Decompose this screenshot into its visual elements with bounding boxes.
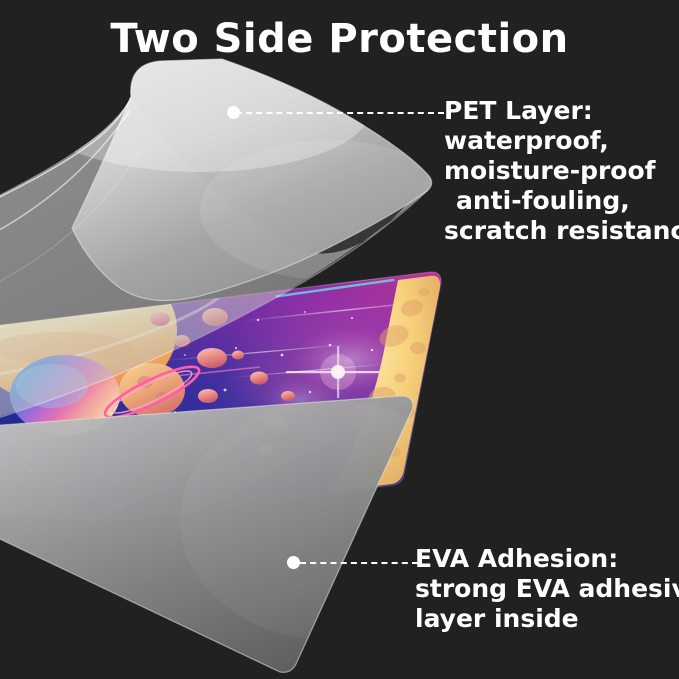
- pet-sheet: [0, 48, 460, 430]
- pet-leader-line: [236, 112, 444, 114]
- pet-callout-marker: [227, 106, 240, 119]
- eva-leader-line: [300, 562, 418, 564]
- eva-callout-line-1: strong EVA adhesive: [415, 574, 679, 604]
- product-feature-image: Two Side Protection PET Layer: waterproo…: [0, 0, 679, 679]
- pet-callout-line-3: anti-fouling,: [444, 186, 679, 216]
- eva-callout-heading: EVA Adhesion:: [415, 544, 679, 574]
- page-title: Two Side Protection: [0, 16, 679, 62]
- pet-callout: PET Layer: waterproof, moisture-proof an…: [444, 96, 679, 246]
- pet-callout-line-4: scratch resistance: [444, 216, 679, 246]
- pet-callout-heading: PET Layer:: [444, 96, 679, 126]
- pet-callout-line-2: moisture-proof: [444, 156, 679, 186]
- eva-callout-line-2: layer inside: [415, 604, 679, 634]
- pet-callout-line-1: waterproof,: [444, 126, 679, 156]
- eva-callout: EVA Adhesion: strong EVA adhesive layer …: [415, 544, 679, 634]
- eva-callout-marker: [287, 556, 300, 569]
